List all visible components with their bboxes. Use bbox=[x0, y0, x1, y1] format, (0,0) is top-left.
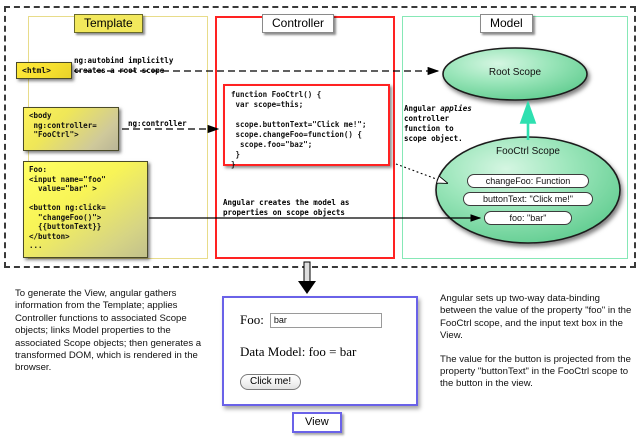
annotation-creates-model: Angular creates the model as properties … bbox=[223, 198, 349, 218]
view-click-me-button[interactable]: Click me! bbox=[240, 374, 301, 390]
scope-property-foo: foo: "bar" bbox=[484, 211, 572, 225]
view-box: Foo: Data Model: foo = bar Click me! bbox=[222, 296, 418, 406]
scope-property-changefoo: changeFoo: Function bbox=[467, 174, 589, 188]
description-right-paragraph-1: Angular sets up two-way data-binding bet… bbox=[440, 293, 635, 343]
view-content: Foo: Data Model: foo = bar Click me! bbox=[224, 298, 416, 404]
applies-text-2: controller function to scope object. bbox=[404, 114, 463, 143]
applies-text-em: applies bbox=[440, 104, 472, 113]
view-foo-row: Foo: bbox=[240, 312, 400, 328]
root-scope-label: Root Scope bbox=[470, 67, 560, 78]
annotation-autobind: ng:autobind implicitly creates a root sc… bbox=[74, 56, 173, 76]
annotation-applies-controller: Angular applies controller function to s… bbox=[404, 104, 472, 144]
view-data-model-text: Data Model: foo = bar bbox=[240, 344, 400, 360]
panel-title-controller: Controller bbox=[262, 14, 334, 33]
description-right: Angular sets up two-way data-binding bet… bbox=[440, 293, 635, 391]
panel-title-template: Template bbox=[74, 14, 143, 33]
panel-title-view: View bbox=[292, 412, 342, 433]
applies-text-1: Angular bbox=[404, 104, 440, 113]
template-body-box: <body ng:controller= "FooCtrl"> bbox=[23, 107, 119, 151]
template-html-box: <html> bbox=[16, 62, 72, 79]
description-right-paragraph-2: The value for the button is projected fr… bbox=[440, 354, 635, 391]
panel-title-model: Model bbox=[480, 14, 533, 33]
arrow-to-view-head bbox=[298, 281, 316, 294]
fooctrl-scope-label: FooCtrl Scope bbox=[478, 146, 578, 157]
template-foo-box: Foo: <input name="foo" value="bar" > <bu… bbox=[23, 161, 148, 258]
view-foo-label: Foo: bbox=[240, 312, 264, 328]
scope-property-buttontext: buttonText: "Click me!" bbox=[463, 192, 593, 206]
annotation-ng-controller: ng:controller bbox=[128, 119, 187, 129]
description-left: To generate the View, angular gathers in… bbox=[15, 288, 211, 375]
diagram-root: Template Controller Model <html> <body n… bbox=[0, 0, 640, 446]
controller-code-box: function FooCtrl() { var scope=this; sco… bbox=[223, 84, 390, 166]
view-foo-input[interactable] bbox=[270, 313, 382, 328]
